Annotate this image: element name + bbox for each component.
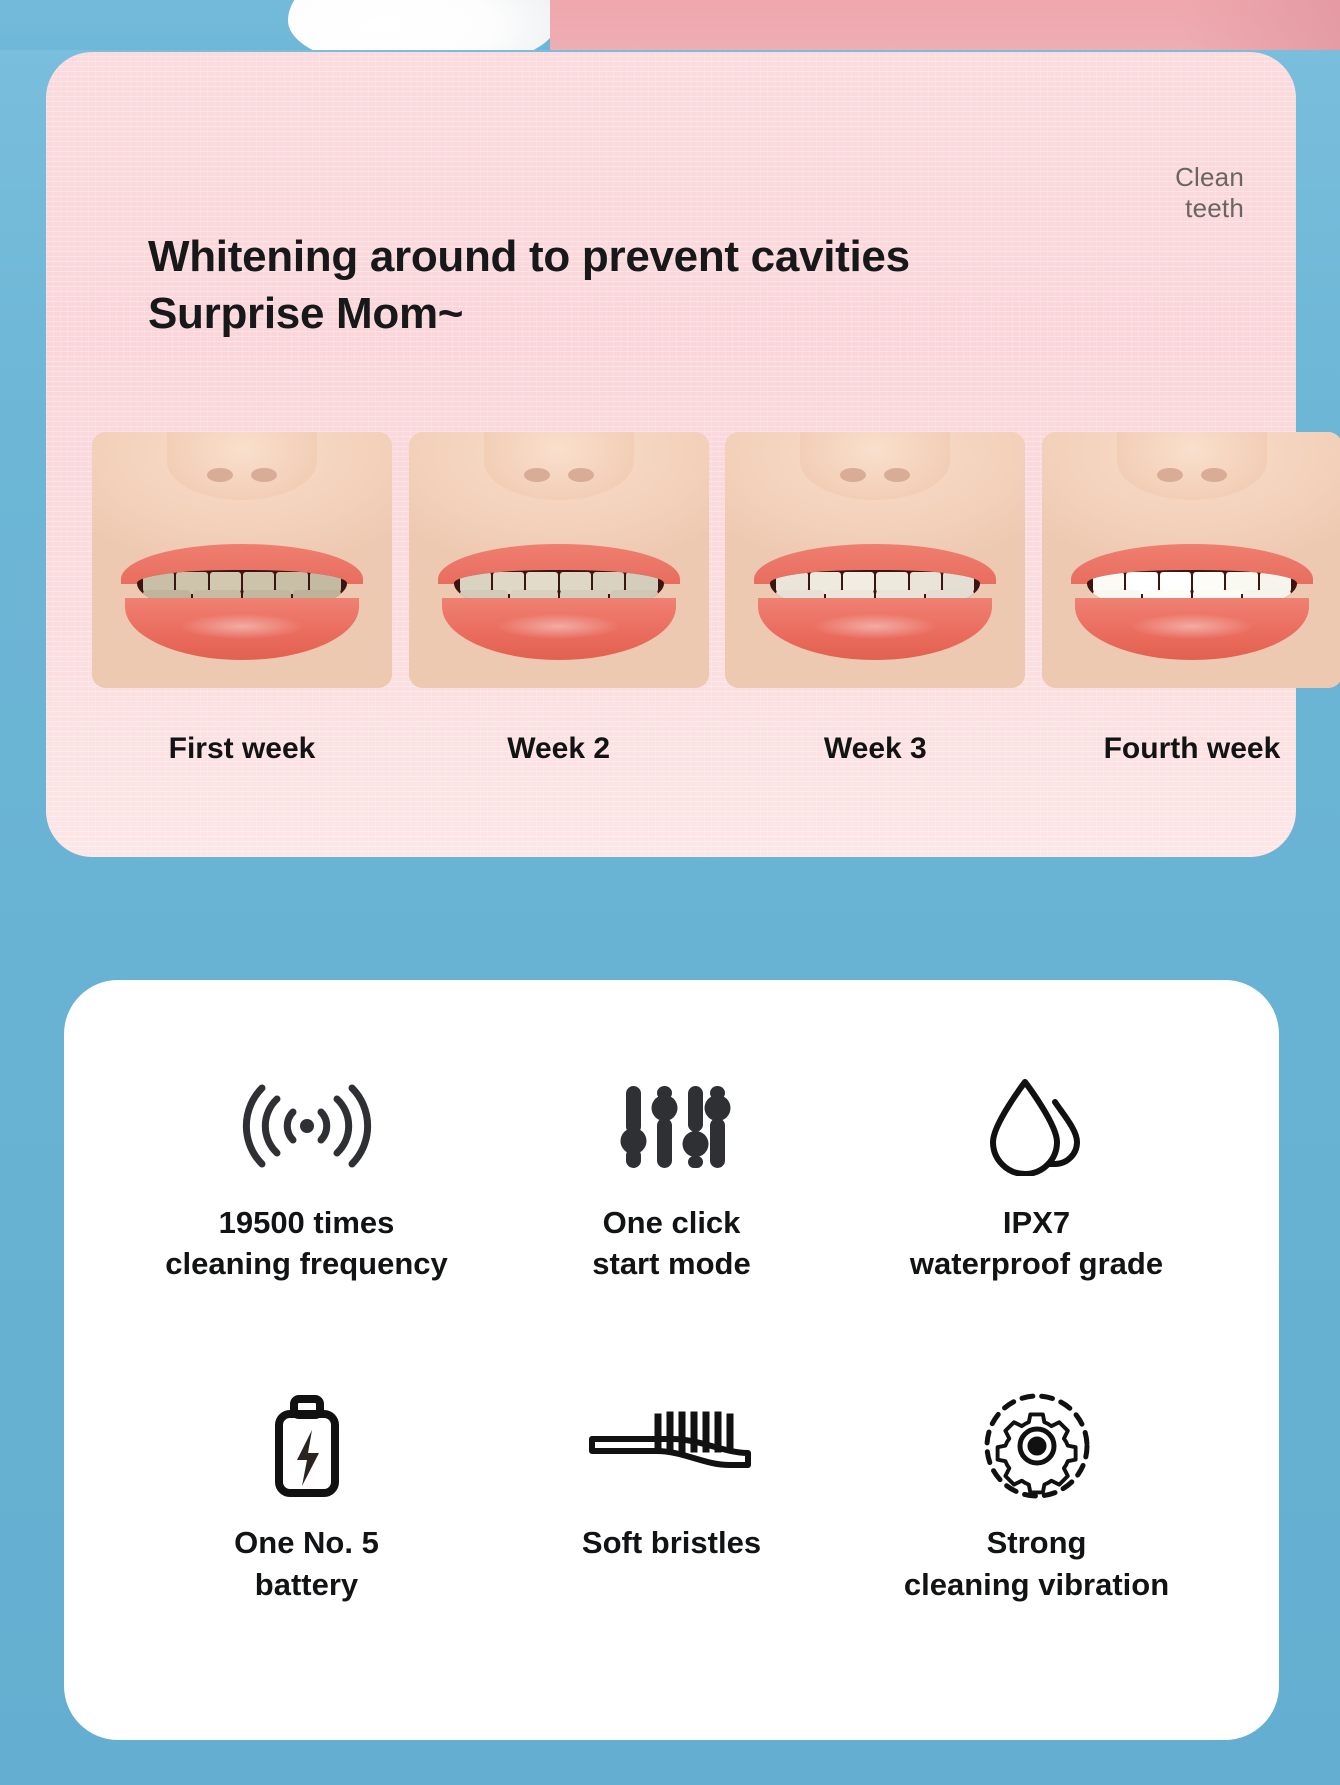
feature-label: IPX7 waterproof grade	[910, 1202, 1163, 1284]
progress-photo-row	[92, 432, 1340, 688]
progress-label-week2: Week 2	[409, 732, 709, 766]
nostril-left	[524, 468, 550, 482]
nostril-left	[207, 468, 233, 482]
progress-photo-week4	[1042, 432, 1340, 688]
progress-label-week4: Fourth week	[1042, 732, 1340, 766]
feature-label: One click start mode	[592, 1202, 750, 1284]
mouth	[1071, 544, 1313, 656]
slider-modes-icon	[612, 1072, 732, 1180]
progress-photo-week1	[92, 432, 392, 688]
nostril-right	[568, 468, 594, 482]
nostril-right	[884, 468, 910, 482]
brand-tag-line2: teeth	[1175, 193, 1244, 224]
vibration-wave-icon	[241, 1072, 373, 1180]
feature-label-line2: waterproof grade	[910, 1243, 1163, 1284]
nostril-right	[251, 468, 277, 482]
feature-label-line1: Soft bristles	[582, 1522, 761, 1563]
lower-lip	[758, 598, 992, 660]
toothbrush-icon	[586, 1392, 758, 1500]
nostril-right	[1201, 468, 1227, 482]
feature-label: 19500 times cleaning frequency	[165, 1202, 448, 1284]
feature-soft-bristles: Soft bristles	[489, 1392, 854, 1604]
mouth	[438, 544, 680, 656]
feature-grid: 19500 times cleaning frequency	[124, 1072, 1219, 1605]
feature-label: One No. 5 battery	[234, 1522, 379, 1604]
progress-photo-week3	[725, 432, 1025, 688]
feature-label-line2: battery	[234, 1564, 379, 1605]
water-drop-icon	[985, 1072, 1089, 1180]
progress-label-row: First week Week 2 Week 3 Fourth week	[92, 732, 1340, 766]
brand-tag: Clean teeth	[1175, 162, 1244, 223]
brand-tag-line1: Clean	[1175, 162, 1244, 193]
feature-waterproof: IPX7 waterproof grade	[854, 1072, 1219, 1284]
gear-icon	[982, 1392, 1092, 1500]
feature-label-line2: start mode	[592, 1243, 750, 1284]
lower-lip	[125, 598, 359, 660]
feature-strong-vibration: Strong cleaning vibration	[854, 1392, 1219, 1604]
feature-label-line2: cleaning frequency	[165, 1243, 448, 1284]
nostril-left	[1157, 468, 1183, 482]
feature-card: 19500 times cleaning frequency	[64, 980, 1279, 1740]
battery-icon	[268, 1392, 346, 1500]
feature-label-line1: One No. 5	[234, 1522, 379, 1563]
feature-label: Strong cleaning vibration	[904, 1522, 1169, 1604]
feature-start-mode: One click start mode	[489, 1072, 854, 1284]
mouth	[754, 544, 996, 656]
hero-headline: Whitening around to prevent cavities Sur…	[148, 228, 910, 342]
progress-photo-week2	[409, 432, 709, 688]
whitening-progress-card: Clean teeth Whitening around to prevent …	[46, 52, 1296, 857]
mouth	[121, 544, 363, 656]
feature-label-line1: Strong	[904, 1522, 1169, 1563]
progress-label-week1: First week	[92, 732, 392, 766]
feature-label: Soft bristles	[582, 1522, 761, 1563]
feature-label-line1: 19500 times	[165, 1202, 448, 1243]
feature-label-line2: cleaning vibration	[904, 1564, 1169, 1605]
progress-label-week3: Week 3	[725, 732, 1025, 766]
feature-cleaning-frequency: 19500 times cleaning frequency	[124, 1072, 489, 1284]
feature-battery: One No. 5 battery	[124, 1392, 489, 1604]
lower-lip	[442, 598, 676, 660]
feature-label-line1: One click	[592, 1202, 750, 1243]
hero-headline-line1: Whitening around to prevent cavities	[148, 228, 910, 285]
lower-lip	[1075, 598, 1309, 660]
hero-headline-line2: Surprise Mom~	[148, 285, 910, 342]
feature-label-line1: IPX7	[910, 1202, 1163, 1243]
nostril-left	[840, 468, 866, 482]
